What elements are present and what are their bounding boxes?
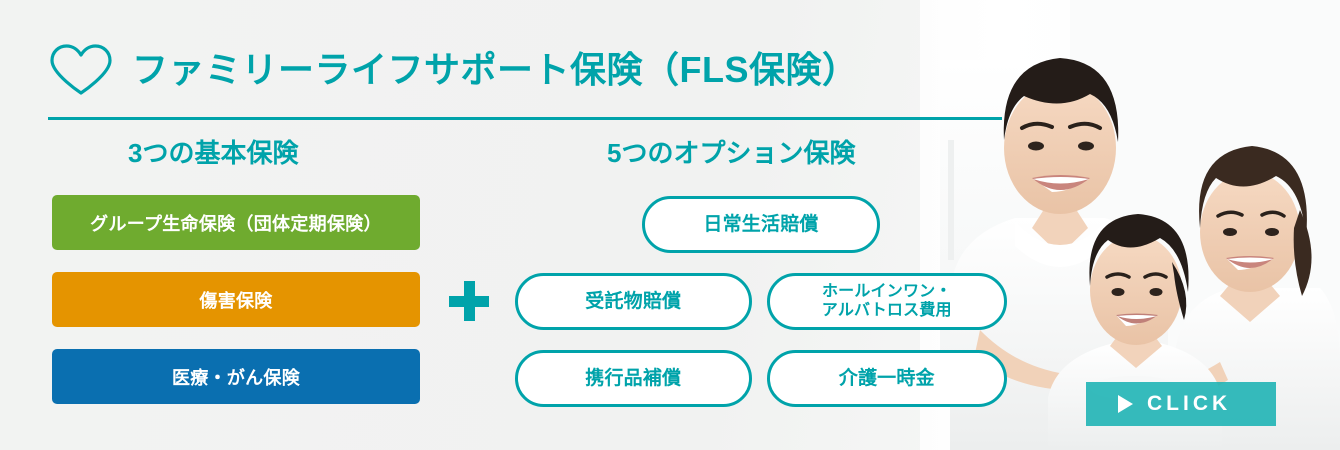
option-pill-daily-life-liability[interactable]: 日常生活賠償 [642,196,880,253]
option-pill-entrusted-goods-liability[interactable]: 受託物賠償 [515,273,752,330]
option-pill-hole-in-one-albatross[interactable]: ホールインワン・ アルバトロス費用 [767,273,1007,330]
heart-icon [48,43,114,97]
click-button-label: CLICK [1147,392,1231,416]
option-row-3: 携行品補償 介護一時金 [515,350,1007,407]
option-row-1: 日常生活賠償 [515,196,1007,253]
basic-insurance-list: グループ生命保険（団体定期保険） 傷害保険 医療・がん保険 [52,195,420,404]
option-section-heading: 5つのオプション保険 [607,140,855,166]
option-pill-nursing-care-lump-sum[interactable]: 介護一時金 [767,350,1007,407]
insurance-banner: ファミリーライフサポート保険（FLS保険） 3つの基本保険 5つのオプション保険… [0,0,1340,450]
basic-section-heading: 3つの基本保険 [128,140,298,166]
option-pill-portable-belongings[interactable]: 携行品補償 [515,350,752,407]
option-row-2: 受託物賠償 ホールインワン・ アルバトロス費用 [515,273,1007,330]
option-insurance-list: 日常生活賠償 受託物賠償 ホールインワン・ アルバトロス費用 携行品補償 介護一… [515,196,1007,407]
page-title: ファミリーライフサポート保険（FLS保険） [132,52,859,88]
basic-insurance-item-medical-cancer[interactable]: 医療・がん保険 [52,349,420,404]
basic-insurance-item-accident[interactable]: 傷害保険 [52,272,420,327]
play-triangle-icon [1118,395,1133,413]
banner-header: ファミリーライフサポート保険（FLS保険） [48,34,1008,106]
click-button[interactable]: CLICK [1086,382,1276,426]
header-divider [48,117,1002,120]
plus-icon [449,281,489,321]
basic-insurance-item-life[interactable]: グループ生命保険（団体定期保険） [52,195,420,250]
